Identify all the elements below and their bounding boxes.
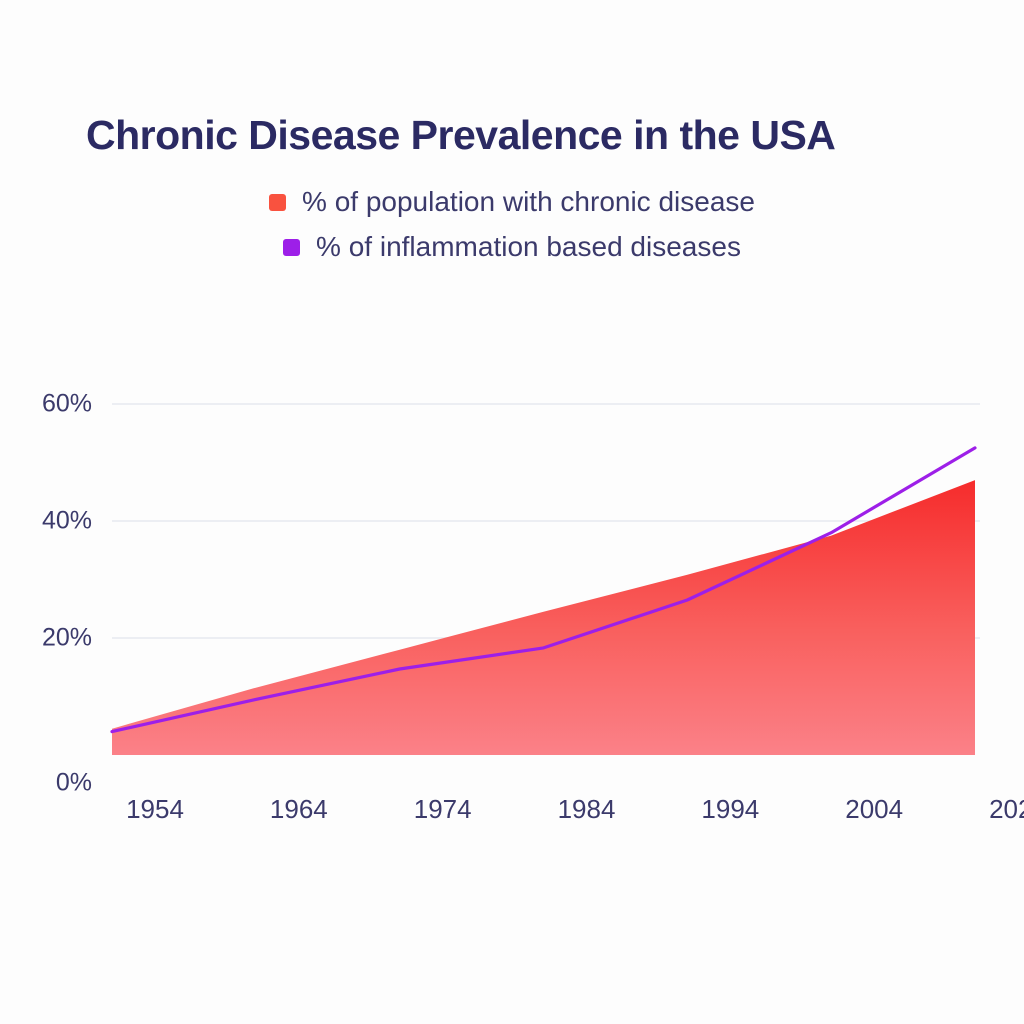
y-axis: 60%40%20%0% bbox=[20, 0, 92, 1024]
x-axis-tick-label: 1954 bbox=[126, 794, 184, 825]
x-axis-tick-label: 1994 bbox=[701, 794, 759, 825]
x-axis: 1954196419741984199420042024 bbox=[0, 786, 1024, 826]
chart-page: Chronic Disease Prevalence in the USA % … bbox=[0, 0, 1024, 1024]
x-axis-tick-label: 2004 bbox=[845, 794, 903, 825]
x-axis-tick-label: 1984 bbox=[558, 794, 616, 825]
y-axis-tick-label: 20% bbox=[20, 624, 92, 653]
x-axis-tick-label: 1974 bbox=[414, 794, 472, 825]
y-axis-tick-label: 60% bbox=[20, 390, 92, 419]
chart-plot-area bbox=[0, 0, 1024, 1024]
x-axis-tick-label: 1964 bbox=[270, 794, 328, 825]
y-axis-tick-label: 40% bbox=[20, 507, 92, 536]
x-axis-tick-label: 2024 bbox=[989, 794, 1024, 825]
